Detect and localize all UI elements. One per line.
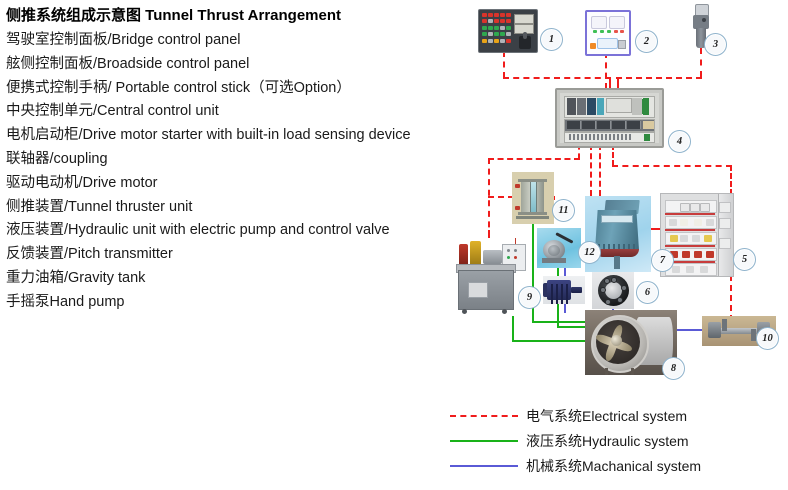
gravity-tank-image bbox=[512, 172, 554, 224]
wire-electrical bbox=[612, 165, 732, 167]
list-item: 液压装置/Hydraulic unit with electric pump a… bbox=[6, 219, 461, 243]
callout-1: 1 bbox=[540, 28, 563, 51]
callout-10: 10 bbox=[756, 327, 779, 350]
list-item: 舷侧控制面板/Broadside control panel bbox=[6, 53, 461, 77]
wire-electrical bbox=[730, 165, 732, 195]
system-type-legend: 电气系统Electrical system 液压系统Hydraulic syst… bbox=[450, 403, 788, 478]
wire-electrical bbox=[503, 77, 611, 79]
list-item: 驱动电动机/Drive motor bbox=[6, 172, 461, 196]
wire-mechanical bbox=[676, 329, 704, 331]
legend-row-hydraulic: 液压系统Hydraulic system bbox=[450, 428, 788, 453]
list-item: 联轴器/coupling bbox=[6, 148, 461, 172]
callout-11: 11 bbox=[552, 199, 575, 222]
nameplate bbox=[468, 282, 488, 298]
wire-mechanical bbox=[564, 303, 566, 313]
pump-cap bbox=[548, 245, 560, 256]
panel-buttons bbox=[482, 13, 514, 46]
system-diagram: 1 2 3 bbox=[440, 0, 788, 400]
wire-electrical bbox=[599, 144, 601, 196]
screen-left bbox=[591, 16, 607, 29]
list-item: 便携式控制手柄/ Portable control stick（可选Option… bbox=[6, 77, 461, 101]
component-legend-list: 侧推系统组成示意图 Tunnel Thrust Arrangement 驾驶室控… bbox=[6, 5, 461, 315]
bridge-control-panel-image bbox=[478, 9, 538, 53]
mechanical-line-swatch bbox=[450, 465, 518, 467]
keypad bbox=[597, 38, 618, 49]
callout-4: 4 bbox=[668, 130, 691, 153]
legend-label: 液压系统Hydraulic system bbox=[526, 431, 689, 451]
legend-row-electrical: 电气系统Electrical system bbox=[450, 403, 788, 428]
wire-hydraulic bbox=[512, 340, 586, 342]
page-title: 侧推系统组成示意图 Tunnel Thrust Arrangement bbox=[6, 5, 461, 26]
callout-8: 8 bbox=[662, 357, 685, 380]
wire-electrical bbox=[503, 51, 505, 78]
callout-12: 12 bbox=[578, 241, 601, 264]
motor-body bbox=[547, 280, 571, 300]
motor-shaft bbox=[571, 287, 582, 293]
list-item: 电机启动柜/Drive motor starter with built-in … bbox=[6, 124, 461, 148]
legend-label: 机械系统Machanical system bbox=[526, 456, 701, 476]
panel-joystick bbox=[519, 36, 531, 49]
callout-9: 9 bbox=[518, 286, 541, 309]
propeller-hub bbox=[611, 335, 622, 346]
drive-motor-image bbox=[543, 276, 585, 304]
filter-red bbox=[459, 244, 468, 265]
list-item: 侧推装置/Tunnel thruster unit bbox=[6, 196, 461, 220]
legend-label: 电气系统Electrical system bbox=[526, 406, 687, 426]
stick-button bbox=[702, 18, 706, 22]
callout-6: 6 bbox=[636, 281, 659, 304]
wire-hydraulic bbox=[557, 326, 586, 328]
callout-5: 5 bbox=[733, 248, 756, 271]
thruster-nameplate bbox=[601, 215, 633, 223]
filter-yellow bbox=[470, 241, 481, 265]
hand-pump-image bbox=[537, 228, 581, 268]
list-item: 重力油箱/Gravity tank bbox=[6, 267, 461, 291]
wire-electrical bbox=[488, 158, 580, 160]
selector-knob bbox=[618, 40, 626, 49]
wire-electrical bbox=[605, 52, 607, 89]
hydraulic-line-swatch bbox=[450, 440, 518, 442]
panel-display-1 bbox=[514, 14, 534, 24]
stick-body bbox=[693, 15, 709, 29]
wire-electrical bbox=[590, 144, 592, 196]
wire-hydraulic bbox=[532, 321, 586, 323]
wire-electrical bbox=[616, 77, 702, 79]
electric-pump bbox=[483, 250, 502, 264]
central-control-unit-image bbox=[555, 88, 664, 148]
level-gauge bbox=[530, 181, 537, 215]
legend-row-mechanical: 机械系统Machanical system bbox=[450, 453, 788, 478]
screen-right bbox=[609, 16, 625, 29]
thruster-shaft bbox=[614, 256, 620, 269]
callout-7: 7 bbox=[651, 249, 674, 272]
coupling-image bbox=[592, 272, 634, 309]
callout-2: 2 bbox=[635, 30, 658, 53]
hydraulic-unit-image bbox=[452, 238, 530, 316]
callout-3: 3 bbox=[704, 33, 727, 56]
broadside-control-panel-image bbox=[585, 10, 631, 56]
pump-base bbox=[542, 258, 566, 263]
orange-button bbox=[590, 43, 596, 49]
list-item: 手摇泵Hand pump bbox=[6, 291, 461, 315]
wire-electrical bbox=[700, 48, 702, 77]
list-item: 反馈装置/Pitch transmitter bbox=[6, 243, 461, 267]
electrical-line-swatch bbox=[450, 415, 518, 417]
list-item: 驾驶室控制面板/Bridge control panel bbox=[6, 29, 461, 53]
diagram-page: 侧推系统组成示意图 Tunnel Thrust Arrangement 驾驶室控… bbox=[0, 0, 788, 490]
list-item: 中央控制单元/Central control unit bbox=[6, 100, 461, 124]
wire-electrical bbox=[488, 158, 490, 238]
